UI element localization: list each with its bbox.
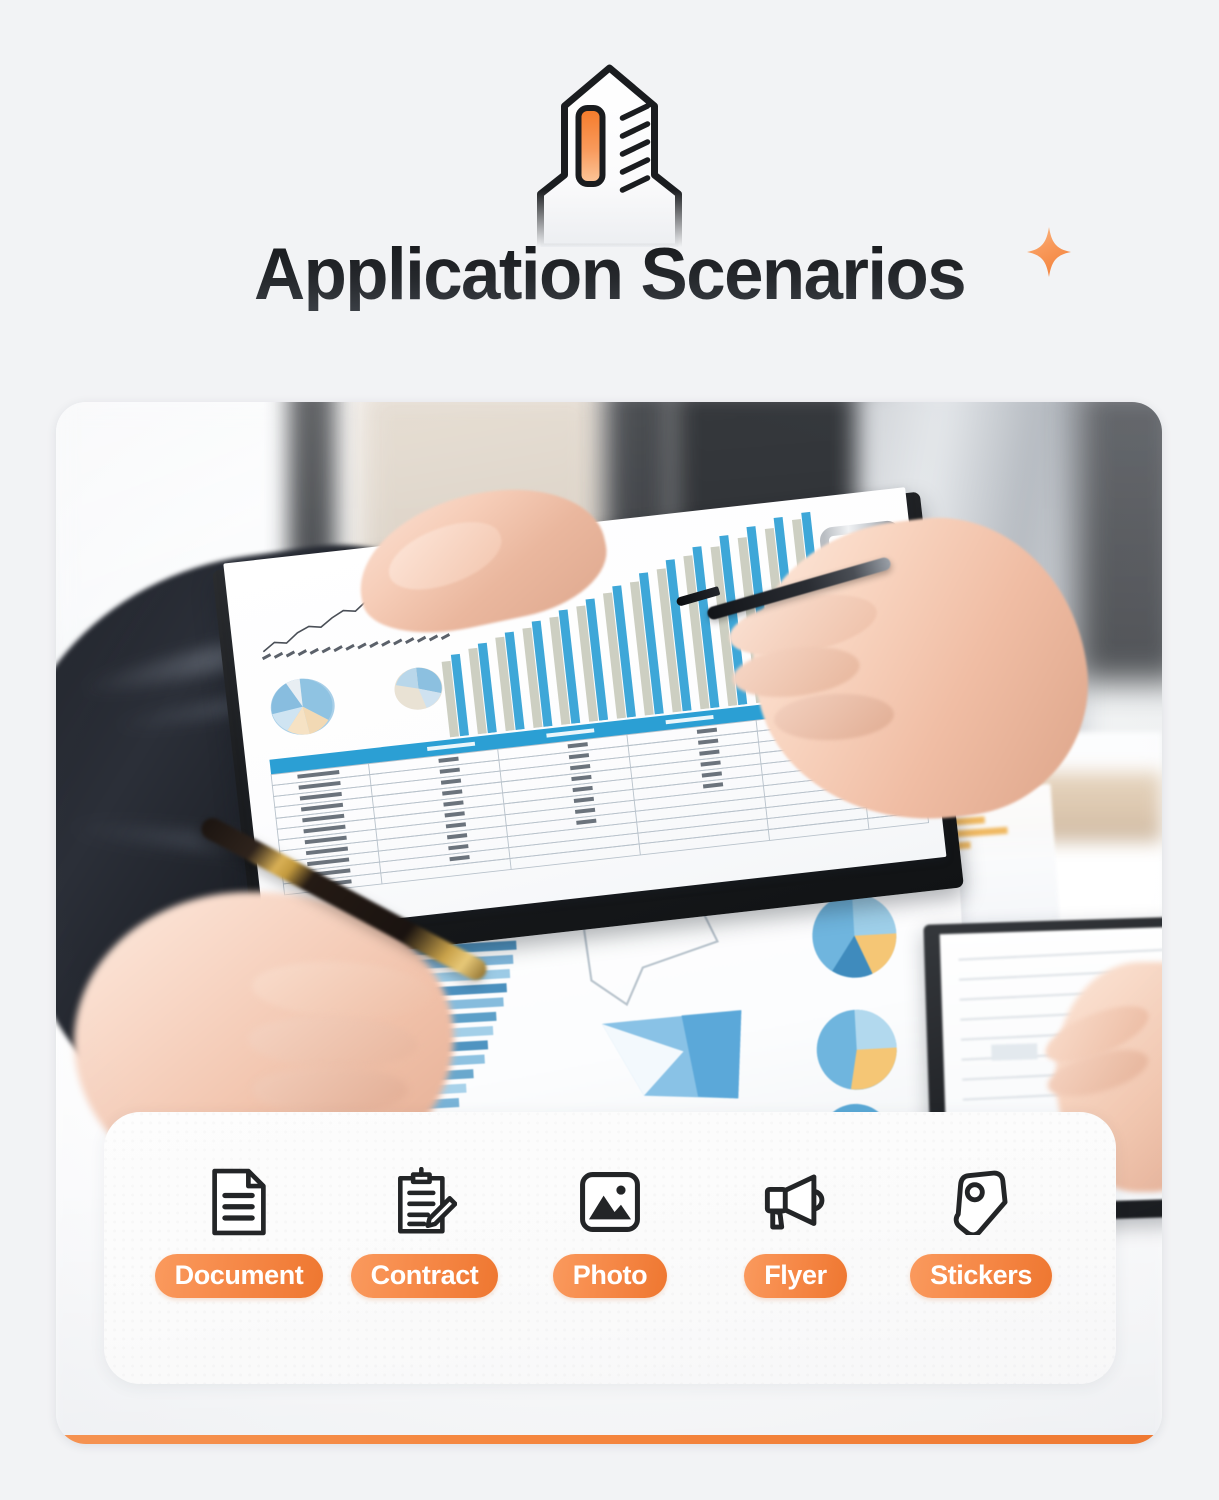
document-funnel-chart: [575, 896, 796, 1115]
dark-edge-right: [1076, 402, 1162, 682]
megaphone-icon: [762, 1164, 830, 1240]
category-item-photo[interactable]: Photo: [519, 1164, 701, 1298]
second-person-finger: [252, 1066, 408, 1114]
tag-icon: [950, 1164, 1012, 1240]
report-pie-chart-1: [260, 670, 345, 744]
orange-accent-bar: [56, 1435, 1162, 1444]
category-chip-flyer[interactable]: Flyer: [744, 1254, 847, 1298]
document-icon: [209, 1164, 269, 1240]
category-chip-document[interactable]: Document: [155, 1254, 324, 1298]
sparkle-icon: [1026, 226, 1072, 278]
category-chip-stickers[interactable]: Stickers: [910, 1254, 1052, 1298]
building-tower-icon: [502, 62, 717, 247]
image-icon: [578, 1164, 642, 1240]
application-scenarios-card: Document Contract: [104, 1112, 1116, 1384]
clipboard-pen-icon: [393, 1164, 457, 1240]
category-chip-photo[interactable]: Photo: [553, 1254, 667, 1298]
page-header: Application Scenarios: [0, 0, 1219, 390]
category-chip-contract[interactable]: Contract: [351, 1254, 499, 1298]
category-item-contract[interactable]: Contract: [334, 1164, 516, 1298]
page-title: Application Scenarios: [254, 238, 965, 311]
category-item-document[interactable]: Document: [148, 1164, 330, 1298]
category-list: Document Contract: [104, 1112, 1116, 1384]
category-item-flyer[interactable]: Flyer: [705, 1164, 887, 1298]
category-item-stickers[interactable]: Stickers: [890, 1164, 1072, 1298]
